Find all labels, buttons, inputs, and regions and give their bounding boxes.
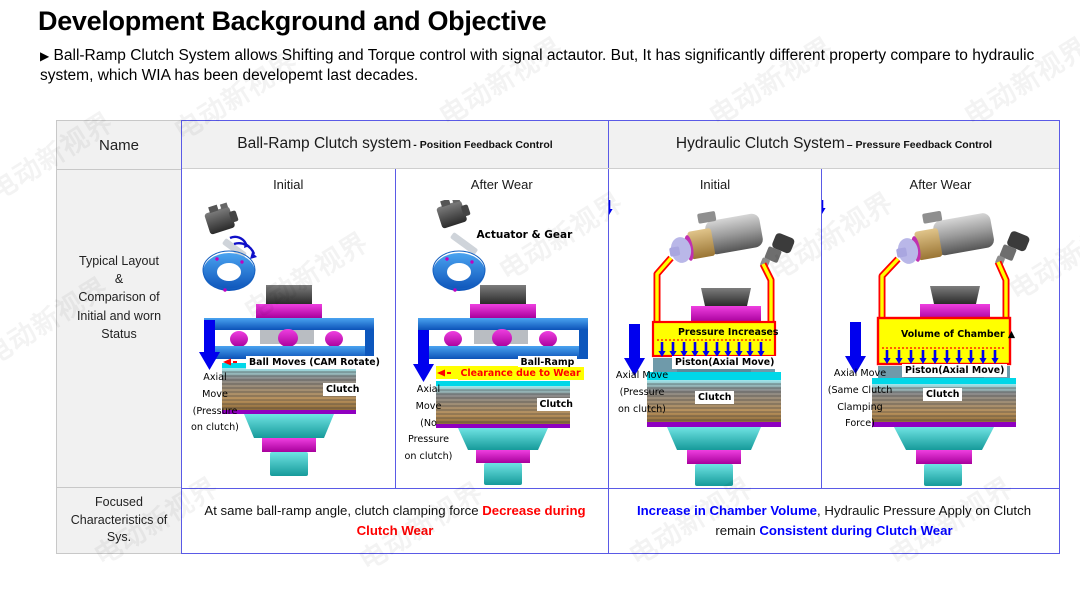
diagram-ball-ramp-initial: Ball Moves (CAM Rotate) Clutch Axial Mov… [182, 200, 396, 488]
conclusion-ball-ramp: At same ball-ramp angle, clutch clamping… [182, 489, 609, 553]
axial-move-note: Axial Move (Same Clutch Clamping Force) [824, 366, 896, 433]
pressure-sensor-icon [995, 230, 1031, 266]
hub-top-icon [701, 288, 751, 306]
comparison-table: Name Typical Layout & Comparison of Init… [56, 120, 1060, 554]
system-control-hydraulic: – Pressure Feedback Control [847, 139, 992, 151]
state-header-ball-ramp-after-wear: After Wear [396, 169, 610, 200]
actuator-motor-icon [434, 200, 472, 229]
diagram-hydraulic-after-wear: Volume of Chamber ▲ Piston(Axial Move) C… [822, 200, 1059, 488]
hydraulic-after-wear-svg [822, 200, 1059, 488]
diagram-ball-ramp-after-wear: Actuator & Gear Ball-Ramp Clearance due … [396, 200, 610, 488]
ball-ramp-ring-icon [433, 251, 485, 292]
hub-bottom-icon [244, 414, 334, 438]
system-control-ball-ramp: - Position Feedback Control [413, 139, 552, 151]
subtitle-paragraph: ▶ Ball-Ramp Clutch System allows Shiftin… [40, 46, 1045, 87]
ball-icon [325, 331, 343, 347]
ball-ramp-ring-icon [203, 251, 255, 292]
ball-icon [539, 331, 557, 347]
row-label-focused-characteristics: Focused Characteristics of Sys. [57, 488, 181, 553]
diagram-panels-row: Ball Moves (CAM Rotate) Clutch Axial Mov… [182, 200, 1059, 488]
state-header-ball-ramp-initial: Initial [182, 169, 396, 200]
label-clutch: Clutch [537, 398, 576, 411]
state-header-hydraulic-initial: Initial [609, 169, 822, 200]
state-header-row: Initial After Wear Initial After Wear [182, 169, 1059, 200]
conclusion-hydraulic-emphasis-2: Consistent during Clutch Wear [759, 523, 952, 538]
hydraulic-initial-svg [609, 200, 822, 488]
table-grid: Ball-Ramp Clutch system - Position Feedb… [181, 120, 1060, 554]
name-column-header: Name [57, 121, 181, 170]
label-clutch: Clutch [323, 383, 362, 396]
ball-icon [492, 329, 512, 347]
conclusion-ball-ramp-plain: At same ball-ramp angle, clutch clamping… [204, 503, 482, 518]
label-piston-axial-move: Piston(Axial Move) [902, 364, 1007, 377]
hub-top-icon [930, 286, 980, 304]
label-clutch: Clutch [923, 388, 962, 401]
pump-motor-icon [669, 211, 764, 265]
ball-ramp-initial-svg [182, 200, 396, 488]
magenta-plate-top-icon [256, 304, 322, 318]
page-title: Development Background and Objective [38, 6, 546, 37]
system-header-row: Ball-Ramp Clutch system - Position Feedb… [182, 121, 1059, 169]
subtitle-text: Ball-Ramp Clutch System allows Shifting … [40, 47, 1034, 84]
conclusion-row: At same ball-ramp angle, clutch clamping… [182, 488, 1059, 553]
name-column: Name Typical Layout & Comparison of Init… [56, 120, 181, 554]
ball-icon [278, 329, 298, 347]
label-clearance-due-to-wear: Clearance due to Wear [458, 367, 584, 380]
row-label-typical-layout: Typical Layout & Comparison of Initial a… [57, 170, 181, 488]
bullet-marker-icon: ▶ [40, 49, 49, 63]
system-header-ball-ramp: Ball-Ramp Clutch system - Position Feedb… [182, 121, 609, 168]
conclusion-hydraulic: Increase in Chamber Volume, Hydraulic Pr… [609, 489, 1059, 553]
actuator-motor-icon [202, 200, 240, 235]
label-actuator-gear: Actuator & Gear [474, 228, 576, 242]
conclusion-ball-ramp-text: At same ball-ramp angle, clutch clamping… [192, 501, 598, 541]
conclusion-hydraulic-text: Increase in Chamber Volume, Hydraulic Pr… [619, 501, 1049, 541]
system-header-hydraulic: Hydraulic Clutch System – Pressure Feedb… [609, 121, 1059, 168]
label-piston-axial-move: Piston(Axial Move) [672, 356, 777, 369]
axial-move-note: Axial Move (No Pressure on clutch) [400, 382, 458, 466]
ball-icon [230, 331, 248, 347]
hub-top-icon [266, 285, 312, 304]
system-name-hydraulic: Hydraulic Clutch System [676, 135, 845, 153]
axial-move-note: Axial Move (Pressure on clutch) [609, 368, 675, 418]
state-header-hydraulic-after-wear: After Wear [822, 169, 1059, 200]
ball-icon [444, 331, 462, 347]
label-volume-of-chamber: Volume of Chamber ▲ [898, 328, 1018, 341]
slide-root: 电动新视界 电动新视界 电动新视界 电动新视界 电动新视界 电动新视界 电动新视… [0, 0, 1080, 608]
system-name-ball-ramp: Ball-Ramp Clutch system [237, 135, 411, 153]
diagram-hydraulic-initial: Pressure Increases Piston(Axial Move) Cl… [609, 200, 822, 488]
upper-blue-plate-icon [204, 318, 374, 330]
conclusion-hydraulic-emphasis-1: Increase in Chamber Volume [637, 503, 817, 518]
label-ball-moves: Ball Moves (CAM Rotate) [246, 356, 383, 369]
row-label-typical-layout-text: Typical Layout & Comparison of Initial a… [77, 252, 161, 343]
pressure-sensor-icon [760, 232, 796, 268]
axial-move-note: Axial Move (Pressure on clutch) [186, 370, 244, 437]
label-clutch: Clutch [695, 391, 734, 404]
row-label-focused-characteristics-text: Focused Characteristics of Sys. [71, 494, 168, 547]
label-pressure-increases: Pressure Increases [675, 326, 781, 339]
pump-motor-icon [896, 211, 995, 266]
